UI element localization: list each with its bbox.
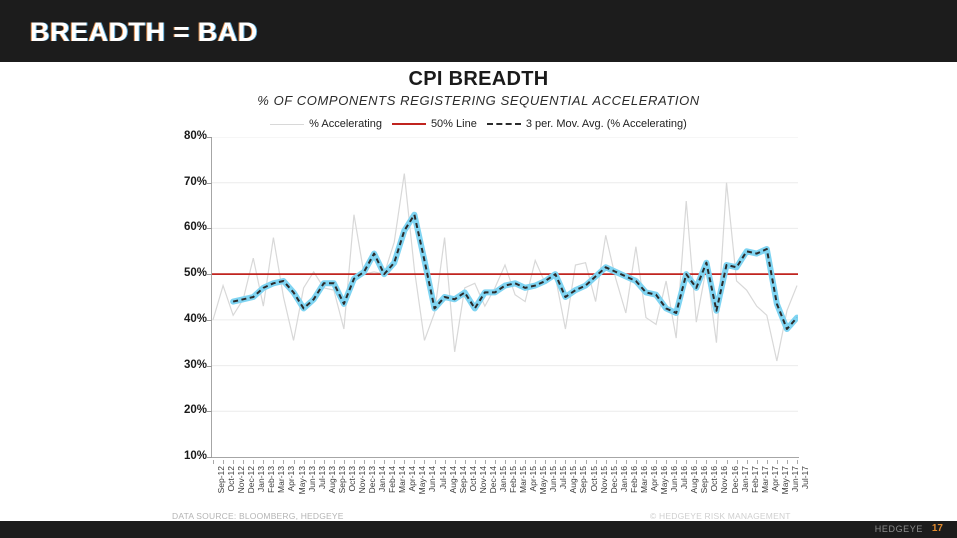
- x-axis-tick-label: Feb-15: [508, 466, 518, 493]
- y-axis-tick-label: 70%: [167, 176, 207, 188]
- x-axis-tick-mark: [404, 460, 405, 464]
- x-axis-tick-mark: [475, 460, 476, 464]
- x-axis-tick-mark: [253, 460, 254, 464]
- legend-swatch-line-icon: [270, 124, 304, 125]
- y-axis-tick-mark: [207, 457, 212, 458]
- x-axis-tick-mark: [445, 460, 446, 464]
- x-axis-tick-mark: [414, 460, 415, 464]
- x-axis-tick-label: Dec-12: [246, 466, 256, 493]
- x-axis-tick-label: Aug-14: [448, 466, 458, 493]
- x-axis-tick-label: Jun-14: [427, 466, 437, 492]
- legend-item-accelerating: % Accelerating: [270, 118, 382, 130]
- y-axis-tick-mark: [207, 411, 212, 412]
- x-axis-tick-mark: [646, 460, 647, 464]
- x-axis-tick-label: Feb-17: [750, 466, 760, 493]
- x-axis-tick-label: Nov-12: [236, 466, 246, 493]
- x-axis-tick-mark: [666, 460, 667, 464]
- x-axis-tick-label: Apr-15: [528, 466, 538, 492]
- x-axis-tick-label: Mar-14: [397, 466, 407, 493]
- x-axis-tick-mark: [716, 460, 717, 464]
- chart-svg: [212, 137, 798, 457]
- x-axis-tick-mark: [535, 460, 536, 464]
- x-axis-tick-label: Feb-14: [387, 466, 397, 493]
- legend-label: % Accelerating: [309, 118, 382, 130]
- x-axis-tick-label: Oct-14: [468, 466, 478, 492]
- x-axis-tick-label: Sep-13: [337, 466, 347, 493]
- x-axis-tick-label: Sep-14: [458, 466, 468, 493]
- x-axis-tick-mark: [374, 460, 375, 464]
- x-axis-tick-label: Apr-13: [286, 466, 296, 492]
- plot-area: [212, 137, 798, 457]
- footer-brand: HEDGEYE: [875, 524, 923, 534]
- x-axis-tick-label: Aug-16: [689, 466, 699, 493]
- x-axis-tick-mark: [565, 460, 566, 464]
- y-axis-tick-mark: [207, 274, 212, 275]
- x-axis-tick-label: Dec-16: [730, 466, 740, 493]
- x-axis-tick-mark: [596, 460, 597, 464]
- x-axis-tick-label: Apr-17: [770, 466, 780, 492]
- footer-copyright: © HEDGEYE RISK MANAGEMENT: [650, 511, 791, 521]
- x-axis-tick-mark: [656, 460, 657, 464]
- slide: BREADTH = BAD CPI BREADTH % OF COMPONENT…: [0, 0, 957, 538]
- x-axis-tick-mark: [344, 460, 345, 464]
- x-axis-tick-mark: [495, 460, 496, 464]
- x-axis-tick-mark: [575, 460, 576, 464]
- x-axis-tick-mark: [273, 460, 274, 464]
- x-axis-tick-label: Jul-15: [558, 466, 568, 489]
- x-axis-tick-label: Jul-14: [438, 466, 448, 489]
- x-axis-tick-label: May-13: [297, 466, 307, 494]
- legend-swatch-dashed-icon: [487, 123, 521, 125]
- x-axis-tick-mark: [314, 460, 315, 464]
- x-axis-tick-mark: [525, 460, 526, 464]
- x-axis-tick-label: Oct-16: [709, 466, 719, 492]
- x-axis-tick-label: Jan-17: [740, 466, 750, 492]
- x-axis-tick-label: Jan-16: [619, 466, 629, 492]
- x-axis-tick-label: Jan-14: [377, 466, 387, 492]
- x-axis-tick-label: Oct-15: [589, 466, 599, 492]
- x-axis-tick-mark: [747, 460, 748, 464]
- x-axis-tick-mark: [636, 460, 637, 464]
- x-axis-tick-mark: [545, 460, 546, 464]
- x-axis-tick-label: Jul-13: [317, 466, 327, 489]
- y-axis-tick-mark: [207, 320, 212, 321]
- x-axis-tick-label: Mar-17: [760, 466, 770, 493]
- y-axis-tick-label: 80%: [167, 130, 207, 142]
- x-axis-tick-mark: [384, 460, 385, 464]
- x-axis-tick-label: Mar-16: [639, 466, 649, 493]
- x-axis-tick-mark: [435, 460, 436, 464]
- x-axis-tick-mark: [364, 460, 365, 464]
- x-axis-tick-mark: [213, 460, 214, 464]
- x-axis-tick-mark: [304, 460, 305, 464]
- legend-item-moving-average: 3 per. Mov. Avg. (% Accelerating): [487, 118, 687, 130]
- x-axis-line: [211, 457, 799, 458]
- x-axis-tick-label: Jun-16: [669, 466, 679, 492]
- x-axis-tick-label: Jun-15: [548, 466, 558, 492]
- x-axis-tick-mark: [394, 460, 395, 464]
- x-axis-tick-label: Oct-12: [226, 466, 236, 492]
- x-axis-tick-mark: [243, 460, 244, 464]
- x-axis-tick-mark: [294, 460, 295, 464]
- x-axis-tick-mark: [676, 460, 677, 464]
- x-axis-tick-mark: [797, 460, 798, 464]
- x-axis-tick-mark: [223, 460, 224, 464]
- x-axis-tick-label: Jan-15: [498, 466, 508, 492]
- x-axis-tick-label: Dec-15: [609, 466, 619, 493]
- chart-subtitle: % OF COMPONENTS REGISTERING SEQUENTIAL A…: [0, 93, 957, 108]
- x-axis-tick-label: May-16: [659, 466, 669, 494]
- x-axis-tick-label: Dec-14: [488, 466, 498, 493]
- x-axis-tick-label: Nov-16: [719, 466, 729, 493]
- footer-data-source: DATA SOURCE: BLOOMBERG, HEDGEYE: [172, 511, 344, 521]
- x-axis-tick-mark: [696, 460, 697, 464]
- x-axis-tick-label: Dec-13: [367, 466, 377, 493]
- y-axis-tick-label: 30%: [167, 359, 207, 371]
- x-axis-tick-mark: [686, 460, 687, 464]
- y-axis-tick-label: 10%: [167, 450, 207, 462]
- x-axis-tick-label: Apr-14: [407, 466, 417, 492]
- x-axis-tick-mark: [505, 460, 506, 464]
- x-axis-tick-label: Sep-12: [216, 466, 226, 493]
- page-title: BREADTH = BAD: [30, 17, 258, 48]
- x-axis-tick-mark: [334, 460, 335, 464]
- y-axis-tick-label: 20%: [167, 404, 207, 416]
- x-axis-tick-mark: [767, 460, 768, 464]
- legend-swatch-line-icon: [392, 123, 426, 125]
- x-axis-tick-mark: [706, 460, 707, 464]
- x-axis-tick-label: Aug-13: [327, 466, 337, 493]
- x-axis-tick-mark: [455, 460, 456, 464]
- x-axis-tick-label: Jul-17: [800, 466, 810, 489]
- x-axis-tick-label: Jan-13: [256, 466, 266, 492]
- x-axis-tick-label: Sep-16: [699, 466, 709, 493]
- x-axis-tick-mark: [263, 460, 264, 464]
- x-axis-tick-mark: [626, 460, 627, 464]
- x-axis-tick-mark: [586, 460, 587, 464]
- x-axis-tick-mark: [465, 460, 466, 464]
- x-axis-tick-mark: [485, 460, 486, 464]
- x-axis-tick-mark: [324, 460, 325, 464]
- x-axis-tick-label: Jul-16: [679, 466, 689, 489]
- chart-container: CPI BREADTH % OF COMPONENTS REGISTERING …: [0, 62, 957, 502]
- x-axis-tick-label: Apr-16: [649, 466, 659, 492]
- x-axis-tick-label: Aug-15: [568, 466, 578, 493]
- x-axis-tick-mark: [606, 460, 607, 464]
- y-axis-labels: 10%20%30%40%50%60%70%80%: [162, 137, 207, 457]
- y-axis-tick-label: 50%: [167, 267, 207, 279]
- x-axis-tick-label: Nov-14: [478, 466, 488, 493]
- x-axis-tick-label: Mar-15: [518, 466, 528, 493]
- x-axis-tick-label: Oct-13: [347, 466, 357, 492]
- x-axis-tick-mark: [515, 460, 516, 464]
- x-axis-tick-label: May-15: [538, 466, 548, 494]
- x-axis-tick-mark: [737, 460, 738, 464]
- x-axis-tick-mark: [727, 460, 728, 464]
- x-axis-tick-label: Feb-16: [629, 466, 639, 493]
- x-axis-tick-label: Nov-13: [357, 466, 367, 493]
- x-axis-tick-label: Sep-15: [578, 466, 588, 493]
- chart-legend: % Accelerating 50% Line 3 per. Mov. Avg.…: [0, 118, 957, 130]
- y-axis-tick-label: 60%: [167, 221, 207, 233]
- x-axis-tick-mark: [757, 460, 758, 464]
- x-axis-tick-label: May-14: [417, 466, 427, 494]
- x-axis-tick-label: Jun-13: [307, 466, 317, 492]
- legend-label: 3 per. Mov. Avg. (% Accelerating): [526, 118, 687, 130]
- x-axis-tick-label: Feb-13: [266, 466, 276, 493]
- x-axis-tick-mark: [283, 460, 284, 464]
- x-axis-tick-label: Nov-15: [599, 466, 609, 493]
- x-axis-tick-mark: [233, 460, 234, 464]
- x-axis-tick-label: Jun-17: [790, 466, 800, 492]
- y-axis-tick-label: 40%: [167, 313, 207, 325]
- header-bar: BREADTH = BAD: [0, 0, 957, 62]
- legend-item-fifty-line: 50% Line: [392, 118, 477, 130]
- y-axis-tick-mark: [207, 228, 212, 229]
- x-axis-tick-mark: [424, 460, 425, 464]
- footer-page-number: 17: [932, 523, 943, 534]
- x-axis-tick-mark: [555, 460, 556, 464]
- footer-bar: [0, 521, 957, 538]
- x-axis-tick-mark: [777, 460, 778, 464]
- x-axis-tick-mark: [616, 460, 617, 464]
- x-axis-tick-label: May-17: [780, 466, 790, 494]
- y-axis-tick-mark: [207, 137, 212, 138]
- legend-label: 50% Line: [431, 118, 477, 130]
- x-axis-tick-mark: [787, 460, 788, 464]
- x-axis-tick-label: Mar-13: [276, 466, 286, 493]
- y-axis-tick-mark: [207, 366, 212, 367]
- chart-title: CPI BREADTH: [0, 68, 957, 91]
- x-axis-tick-mark: [354, 460, 355, 464]
- y-axis-tick-mark: [207, 183, 212, 184]
